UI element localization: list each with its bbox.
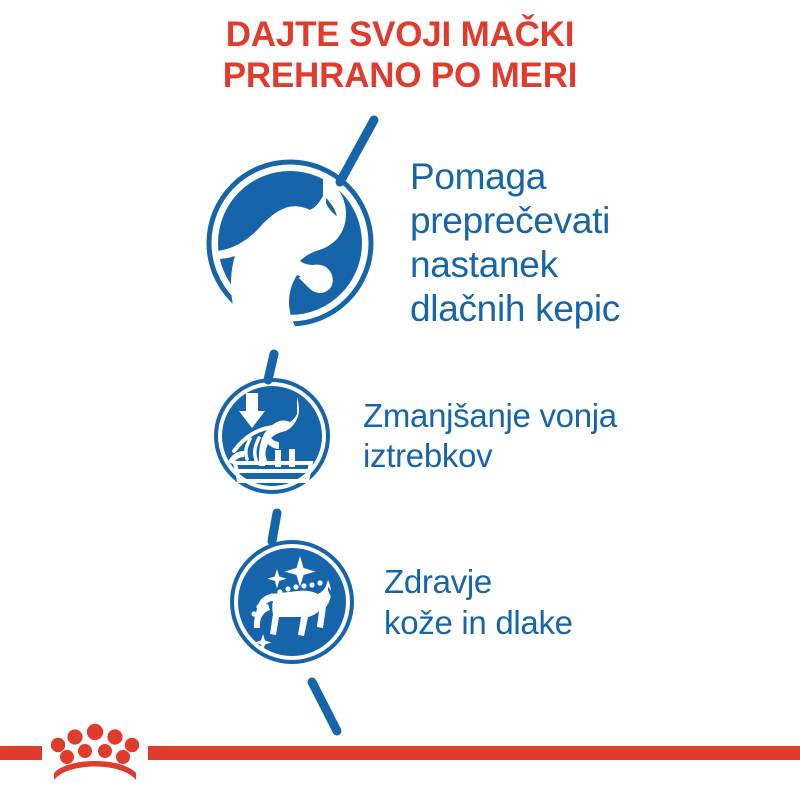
benefit-row: Zmanjšanje vonja iztrebkov [213,377,617,495]
benefit-text-line: nastanek [410,243,620,287]
benefit-text: Zmanjšanje vonja iztrebkov [363,396,617,476]
cat-healthy-skin-coat-icon [228,538,356,666]
benefit-text: Pomaga preprečevati nastanek dlačnih kep… [410,155,620,331]
benefit-text-line: kože in dlake [384,602,573,643]
cat-litter-box-odour-icon [213,377,331,495]
benefit-row: Zdravje kože in dlake [228,538,573,666]
headline-line-1: DAJTE SVOJI MAČKI [0,14,800,55]
benefit-text-line: Pomaga [410,155,620,199]
benefit-text-line: iztrebkov [363,436,617,476]
benefit-text-line: Zmanjšanje vonja [363,396,617,436]
benefit-row: Pomaga preprečevati nastanek dlačnih kep… [205,155,620,331]
headline-line-2: PREHRANO PO MERI [0,55,800,96]
page-title: DAJTE SVOJI MAČKI PREHRANO PO MERI [0,14,800,96]
benefit-text-line: Zdravje [384,561,573,602]
benefit-text-line: preprečevati [410,199,620,243]
cat-hairball-digestion-icon [205,158,375,328]
dash-segment-bottom [312,682,337,731]
product-benefits-panel: DAJTE SVOJI MAČKI PREHRANO PO MERI [0,0,800,800]
royal-canin-crown-logo [42,712,148,794]
benefit-text-line: dlačnih kepic [410,287,620,331]
benefit-text: Zdravje kože in dlake [384,561,573,643]
dash-segment-2-3 [272,513,277,541]
